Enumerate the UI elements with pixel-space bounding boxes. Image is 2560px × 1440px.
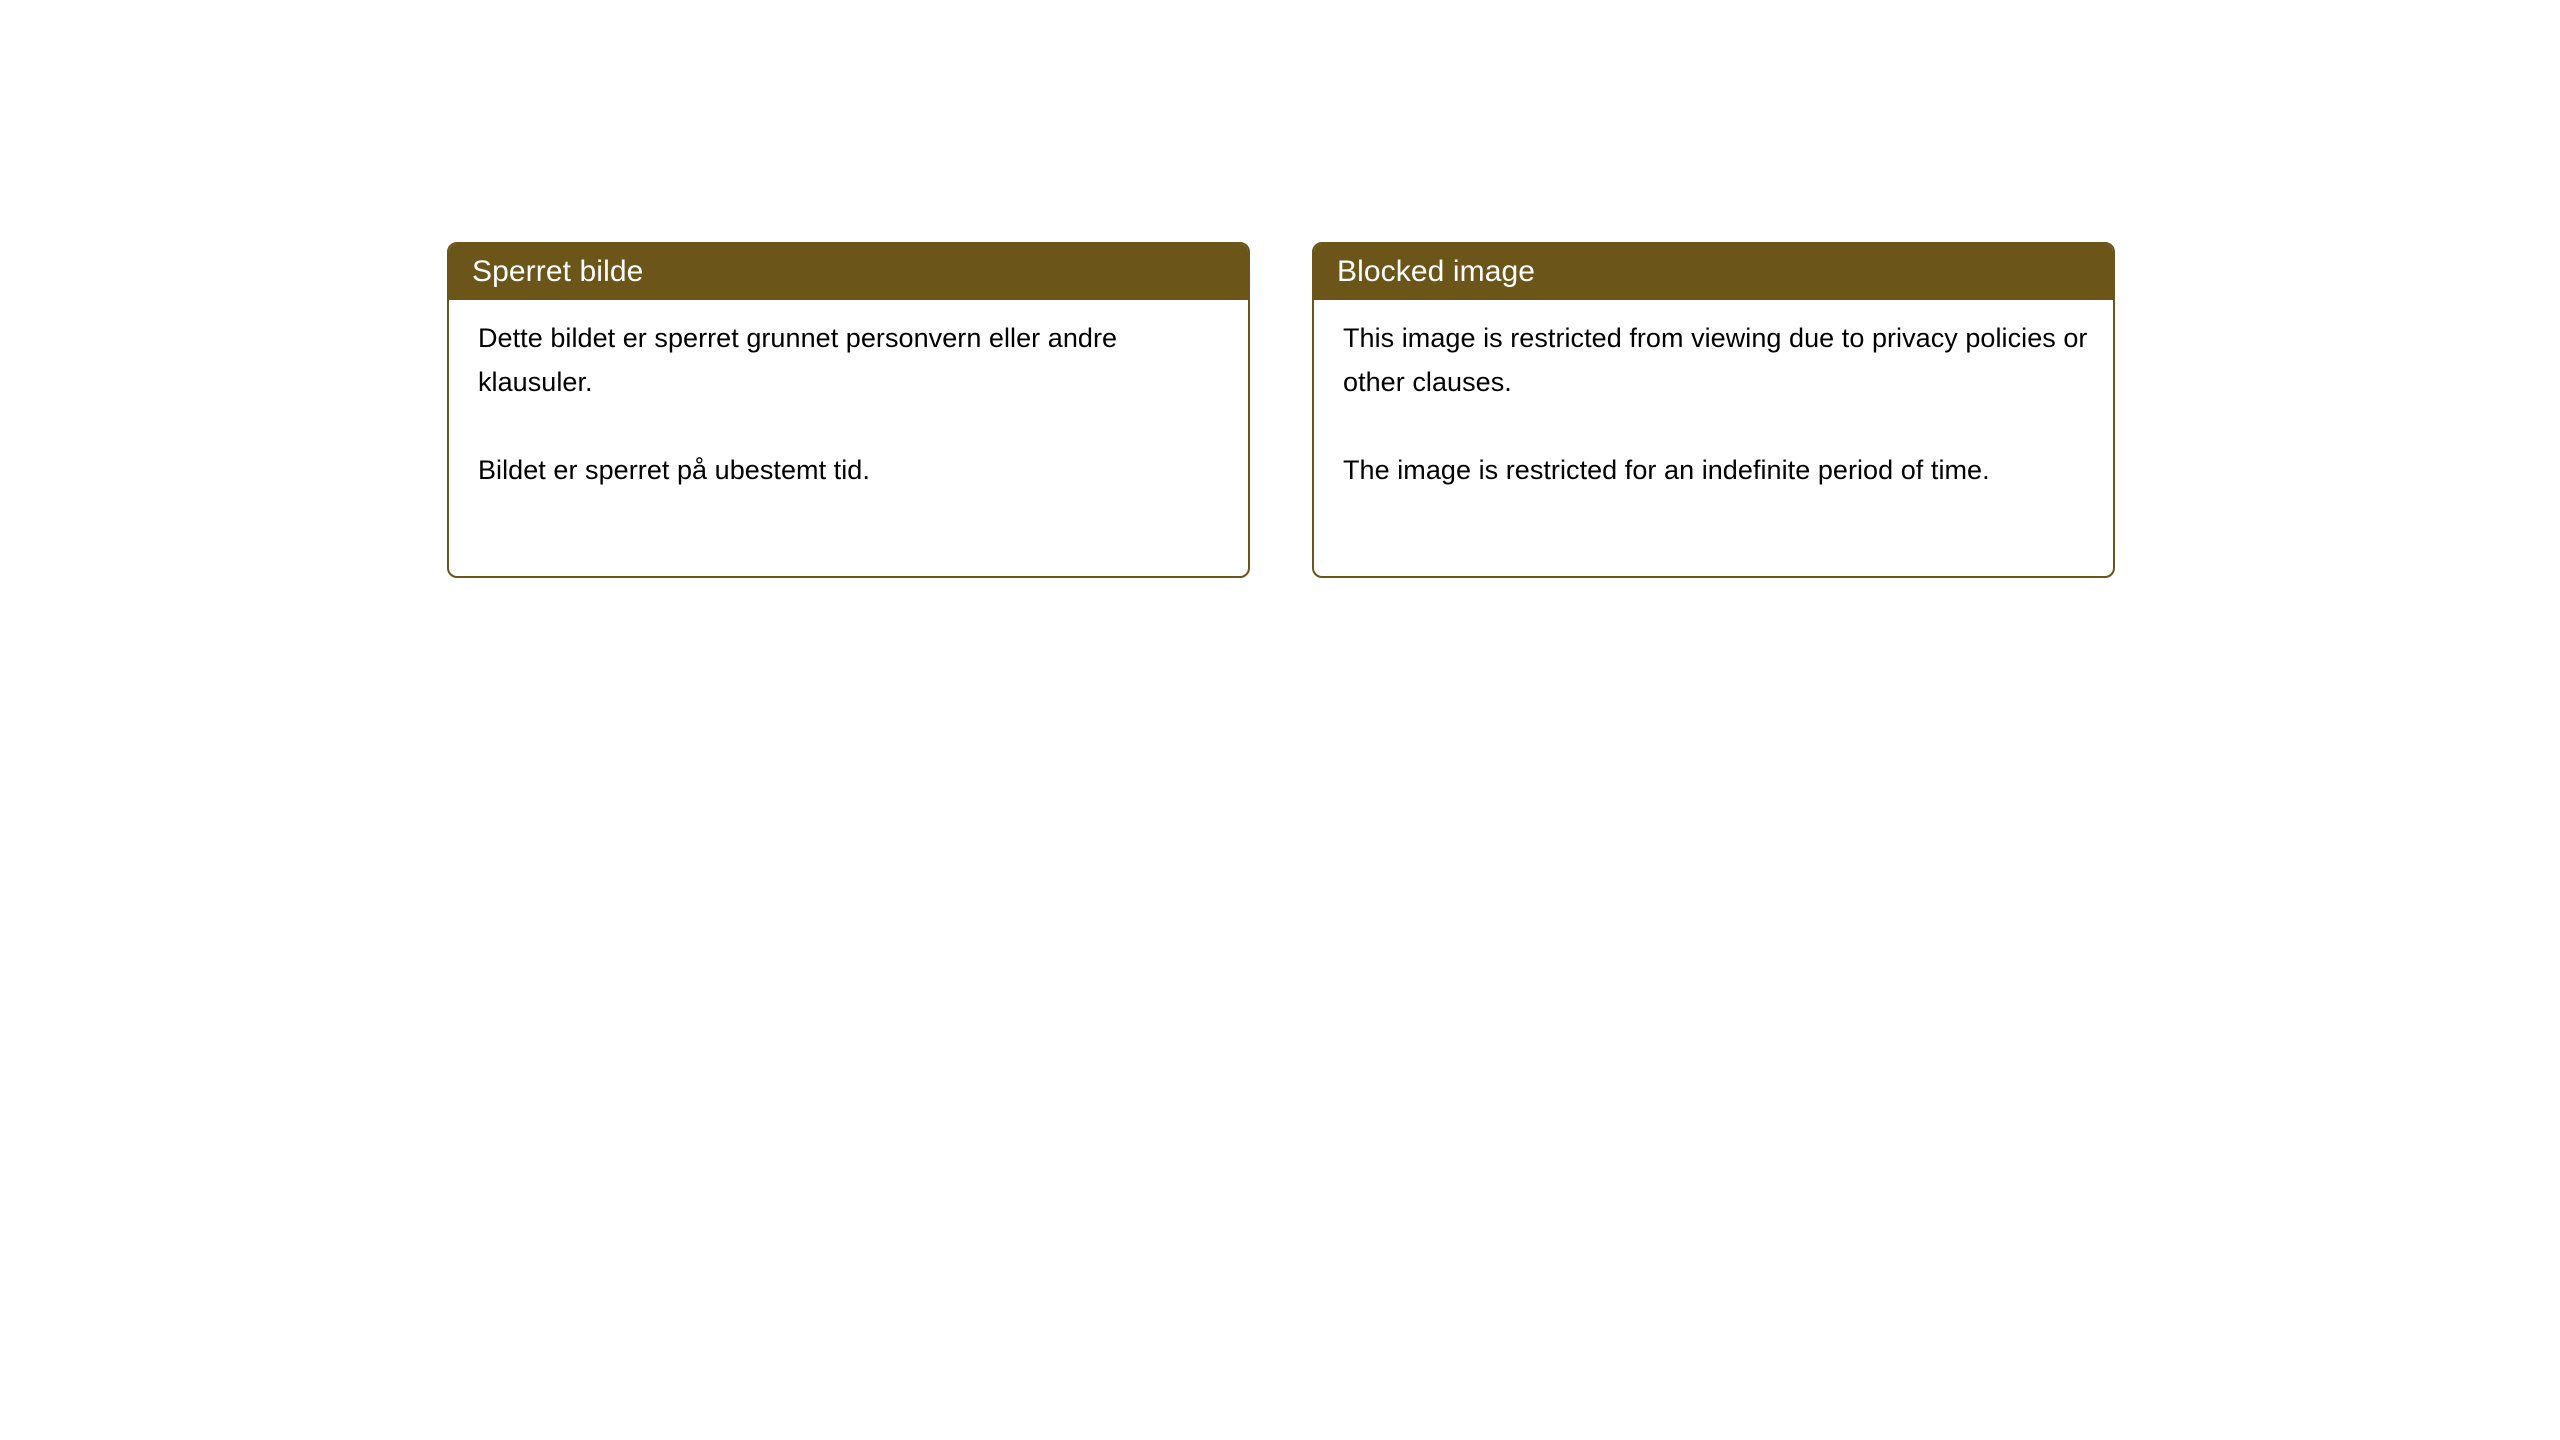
panel-body-norwegian: Dette bildet er sperret grunnet personve…: [449, 300, 1248, 492]
panel-paragraph-primary-english: This image is restricted from viewing du…: [1343, 316, 2091, 404]
panel-title-english: Blocked image: [1337, 255, 1535, 289]
panel-header-english: Blocked image: [1312, 242, 2115, 300]
panel-title-norwegian: Sperret bilde: [472, 255, 643, 289]
panel-paragraph-primary-norwegian: Dette bildet er sperret grunnet personve…: [478, 316, 1226, 404]
panel-paragraph-secondary-norwegian: Bildet er sperret på ubestemt tid.: [478, 448, 1226, 492]
blocked-image-notice-panel-english: Blocked image This image is restricted f…: [1312, 242, 2115, 578]
panel-body-english: This image is restricted from viewing du…: [1314, 300, 2113, 492]
panel-paragraph-secondary-english: The image is restricted for an indefinit…: [1343, 448, 2091, 492]
page-canvas: Sperret bilde Dette bildet er sperret gr…: [0, 0, 2560, 1440]
panel-header-norwegian: Sperret bilde: [447, 242, 1250, 300]
blocked-image-notice-panel-norwegian: Sperret bilde Dette bildet er sperret gr…: [447, 242, 1250, 578]
